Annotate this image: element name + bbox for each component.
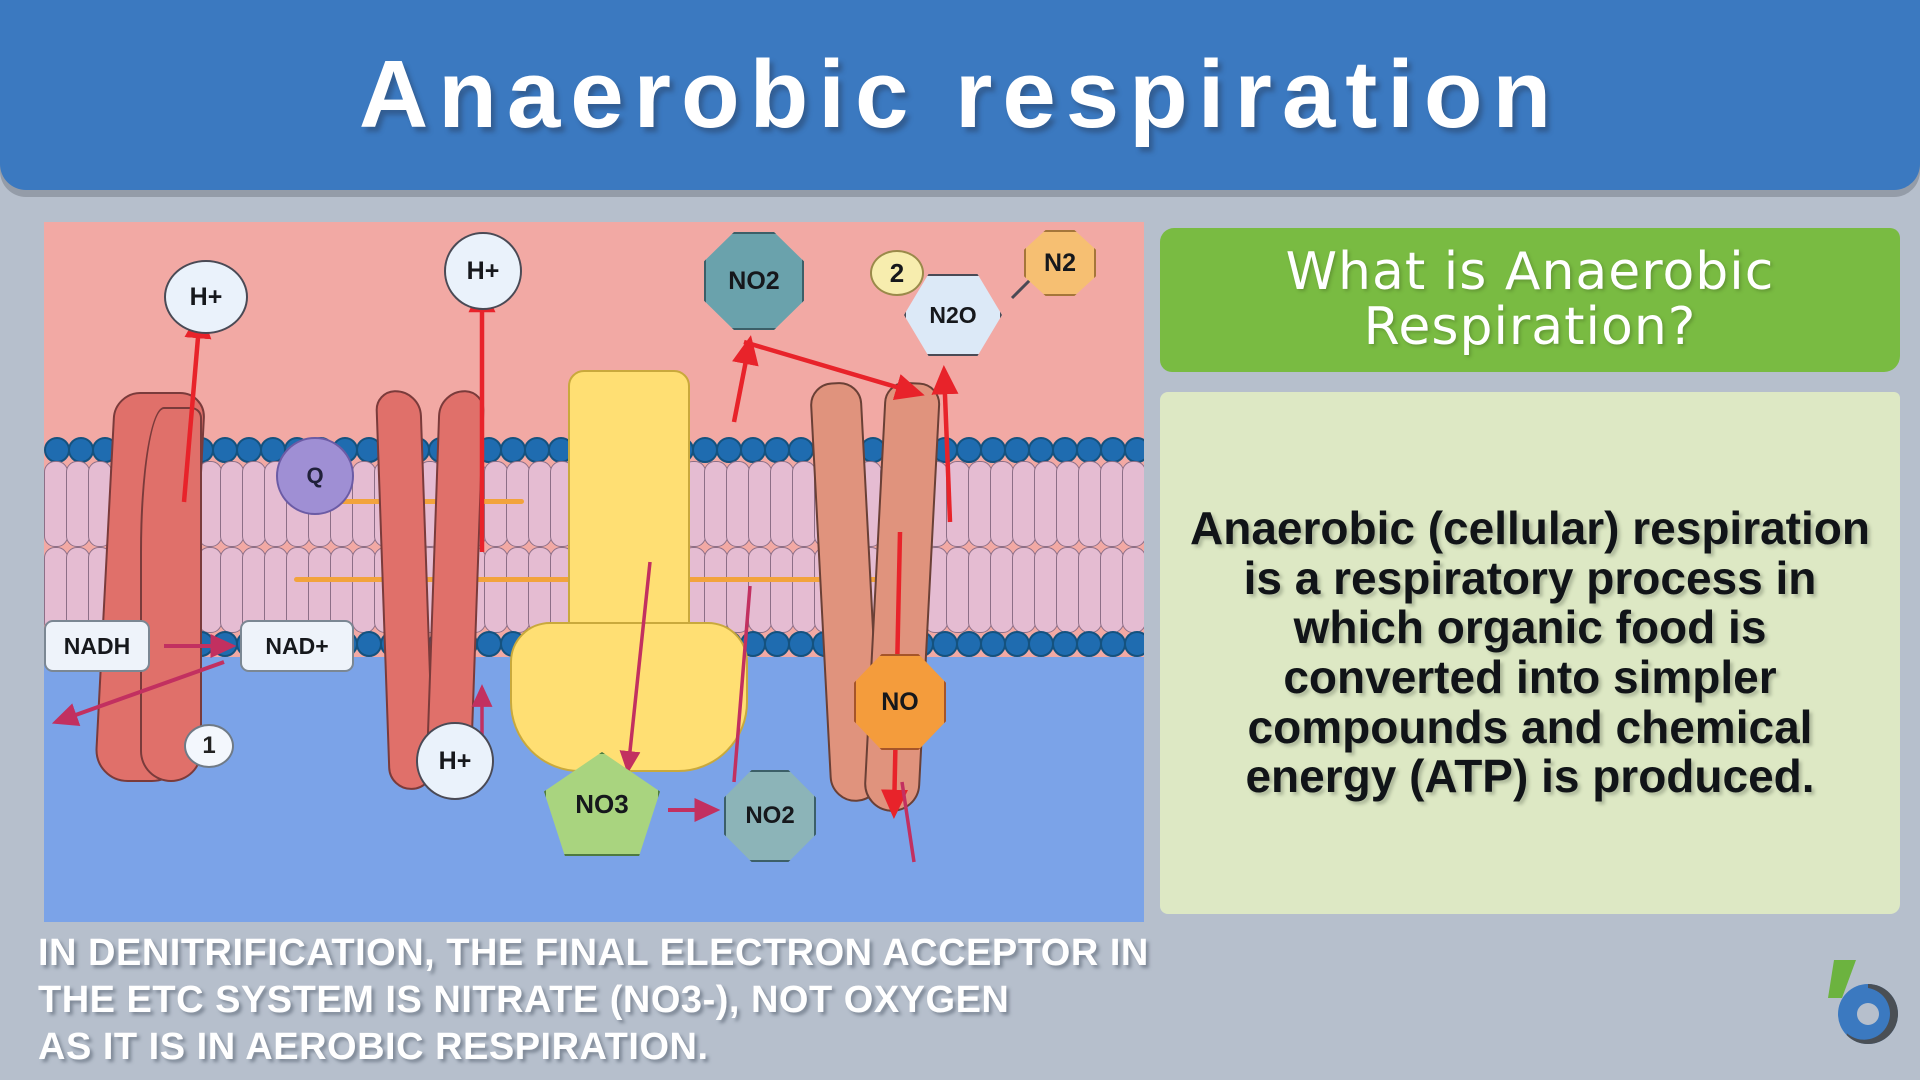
page-title: Anaerobic respiration <box>359 40 1561 150</box>
lipid-tail <box>1100 547 1124 633</box>
caption-line-1: IN DENITRIFICATION, THE FINAL ELECTRON A… <box>38 930 1538 977</box>
lipid-head <box>788 437 814 463</box>
lipid-head <box>356 631 382 657</box>
lipid-tail <box>528 547 552 633</box>
lipid-tail <box>990 547 1014 633</box>
lipid-head <box>1052 437 1078 463</box>
molecule-hplus-1: H+ <box>164 260 248 334</box>
definition-body: Anaerobic (cellular) respiration is a re… <box>1184 504 1876 802</box>
step-marker-2: 2 <box>870 250 924 296</box>
lipid-head <box>1076 631 1102 657</box>
lipid-tail <box>1078 461 1102 547</box>
lipid-tail <box>352 461 376 547</box>
lipid-tail <box>242 461 266 547</box>
lipid-head <box>764 437 790 463</box>
lipid-head <box>956 437 982 463</box>
lipid-head <box>1100 631 1126 657</box>
lipid-head <box>212 631 238 657</box>
lipid-tail <box>1056 547 1080 633</box>
lipid-head <box>980 631 1006 657</box>
lipid-head <box>1124 437 1144 463</box>
step-marker-1: 1 <box>184 724 234 768</box>
lipid-tail <box>506 547 530 633</box>
lipid-tail <box>1012 461 1036 547</box>
lipid-head <box>740 437 766 463</box>
lipid-tail <box>506 461 530 547</box>
lipid-head <box>1076 437 1102 463</box>
lipid-tail <box>1034 461 1058 547</box>
lipid-head <box>1028 631 1054 657</box>
lipid-head <box>236 437 262 463</box>
question-heading: What is Anaerobic Respiration? <box>1178 245 1882 354</box>
quinone-q-carrier: Q <box>276 437 354 515</box>
lipid-head <box>788 631 814 657</box>
lipid-head <box>764 631 790 657</box>
biology-online-logo[interactable] <box>1826 958 1910 1050</box>
lipid-tail <box>1122 461 1144 547</box>
lipid-tail <box>484 461 508 547</box>
lipid-head <box>1004 437 1030 463</box>
lipid-tail <box>770 461 794 547</box>
lipid-tail <box>44 461 68 547</box>
lipid-tail <box>792 461 816 547</box>
lipid-tail <box>66 461 90 547</box>
lipid-tail <box>1122 547 1144 633</box>
question-banner: What is Anaerobic Respiration? <box>1160 228 1900 372</box>
lipid-tail <box>946 461 970 547</box>
lipid-tail <box>770 547 794 633</box>
lipid-tail <box>220 461 244 547</box>
lipid-tail <box>528 461 552 547</box>
lipid-tail <box>704 461 728 547</box>
molecule-n2: N2 <box>1024 230 1096 296</box>
lipid-tail <box>704 547 728 633</box>
caption-line-2: THE ETC SYSTEM IS NITRATE (NO3-), NOT OX… <box>38 977 1538 1024</box>
lipid-tail <box>748 461 772 547</box>
lipid-tail <box>968 547 992 633</box>
lipid-tail <box>792 547 816 633</box>
protein-complex-i-lobe <box>140 407 202 782</box>
lipid-head <box>1124 631 1144 657</box>
lipid-tail <box>1012 547 1036 633</box>
lipid-head <box>68 437 94 463</box>
lipid-head <box>476 631 502 657</box>
lipid-tail <box>220 547 244 633</box>
lipid-tail <box>1100 461 1124 547</box>
molecule-nad-plus: NAD+ <box>240 620 354 672</box>
title-bar: Anaerobic respiration <box>0 0 1920 190</box>
lipid-head <box>716 437 742 463</box>
lipid-tail <box>726 461 750 547</box>
lipid-tail <box>748 547 772 633</box>
lipid-tail <box>1056 461 1080 547</box>
lipid-tail <box>968 461 992 547</box>
lipid-tail <box>726 547 750 633</box>
lipid-tail <box>946 547 970 633</box>
lipid-head <box>524 437 550 463</box>
lipid-tail <box>1078 547 1102 633</box>
molecule-hplus-2: H+ <box>444 232 522 310</box>
lipid-tail <box>1034 547 1058 633</box>
atp-synthase-head <box>510 622 748 772</box>
lipid-head <box>956 631 982 657</box>
caption-line-3: AS IT IS IN AEROBIC RESPIRATION. <box>38 1024 1538 1071</box>
lipid-head <box>500 437 526 463</box>
lipid-head <box>1100 437 1126 463</box>
molecule-no: NO <box>854 654 946 750</box>
definition-card: Anaerobic (cellular) respiration is a re… <box>1160 392 1900 914</box>
molecule-hplus-3: H+ <box>416 722 494 800</box>
lipid-tail <box>990 461 1014 547</box>
lipid-head <box>1028 437 1054 463</box>
lipid-tail <box>484 547 508 633</box>
molecule-nadh: NADH <box>44 620 150 672</box>
lipid-head <box>980 437 1006 463</box>
footer-caption: IN DENITRIFICATION, THE FINAL ELECTRON A… <box>38 930 1538 1071</box>
lipid-head <box>932 631 958 657</box>
lipid-head <box>44 437 70 463</box>
lipid-head <box>1004 631 1030 657</box>
lipid-tail <box>352 547 376 633</box>
anaerobic-respiration-diagram: Q H+ <box>44 222 1144 922</box>
lipid-head <box>692 437 718 463</box>
lipid-head <box>1052 631 1078 657</box>
lipid-head <box>212 437 238 463</box>
